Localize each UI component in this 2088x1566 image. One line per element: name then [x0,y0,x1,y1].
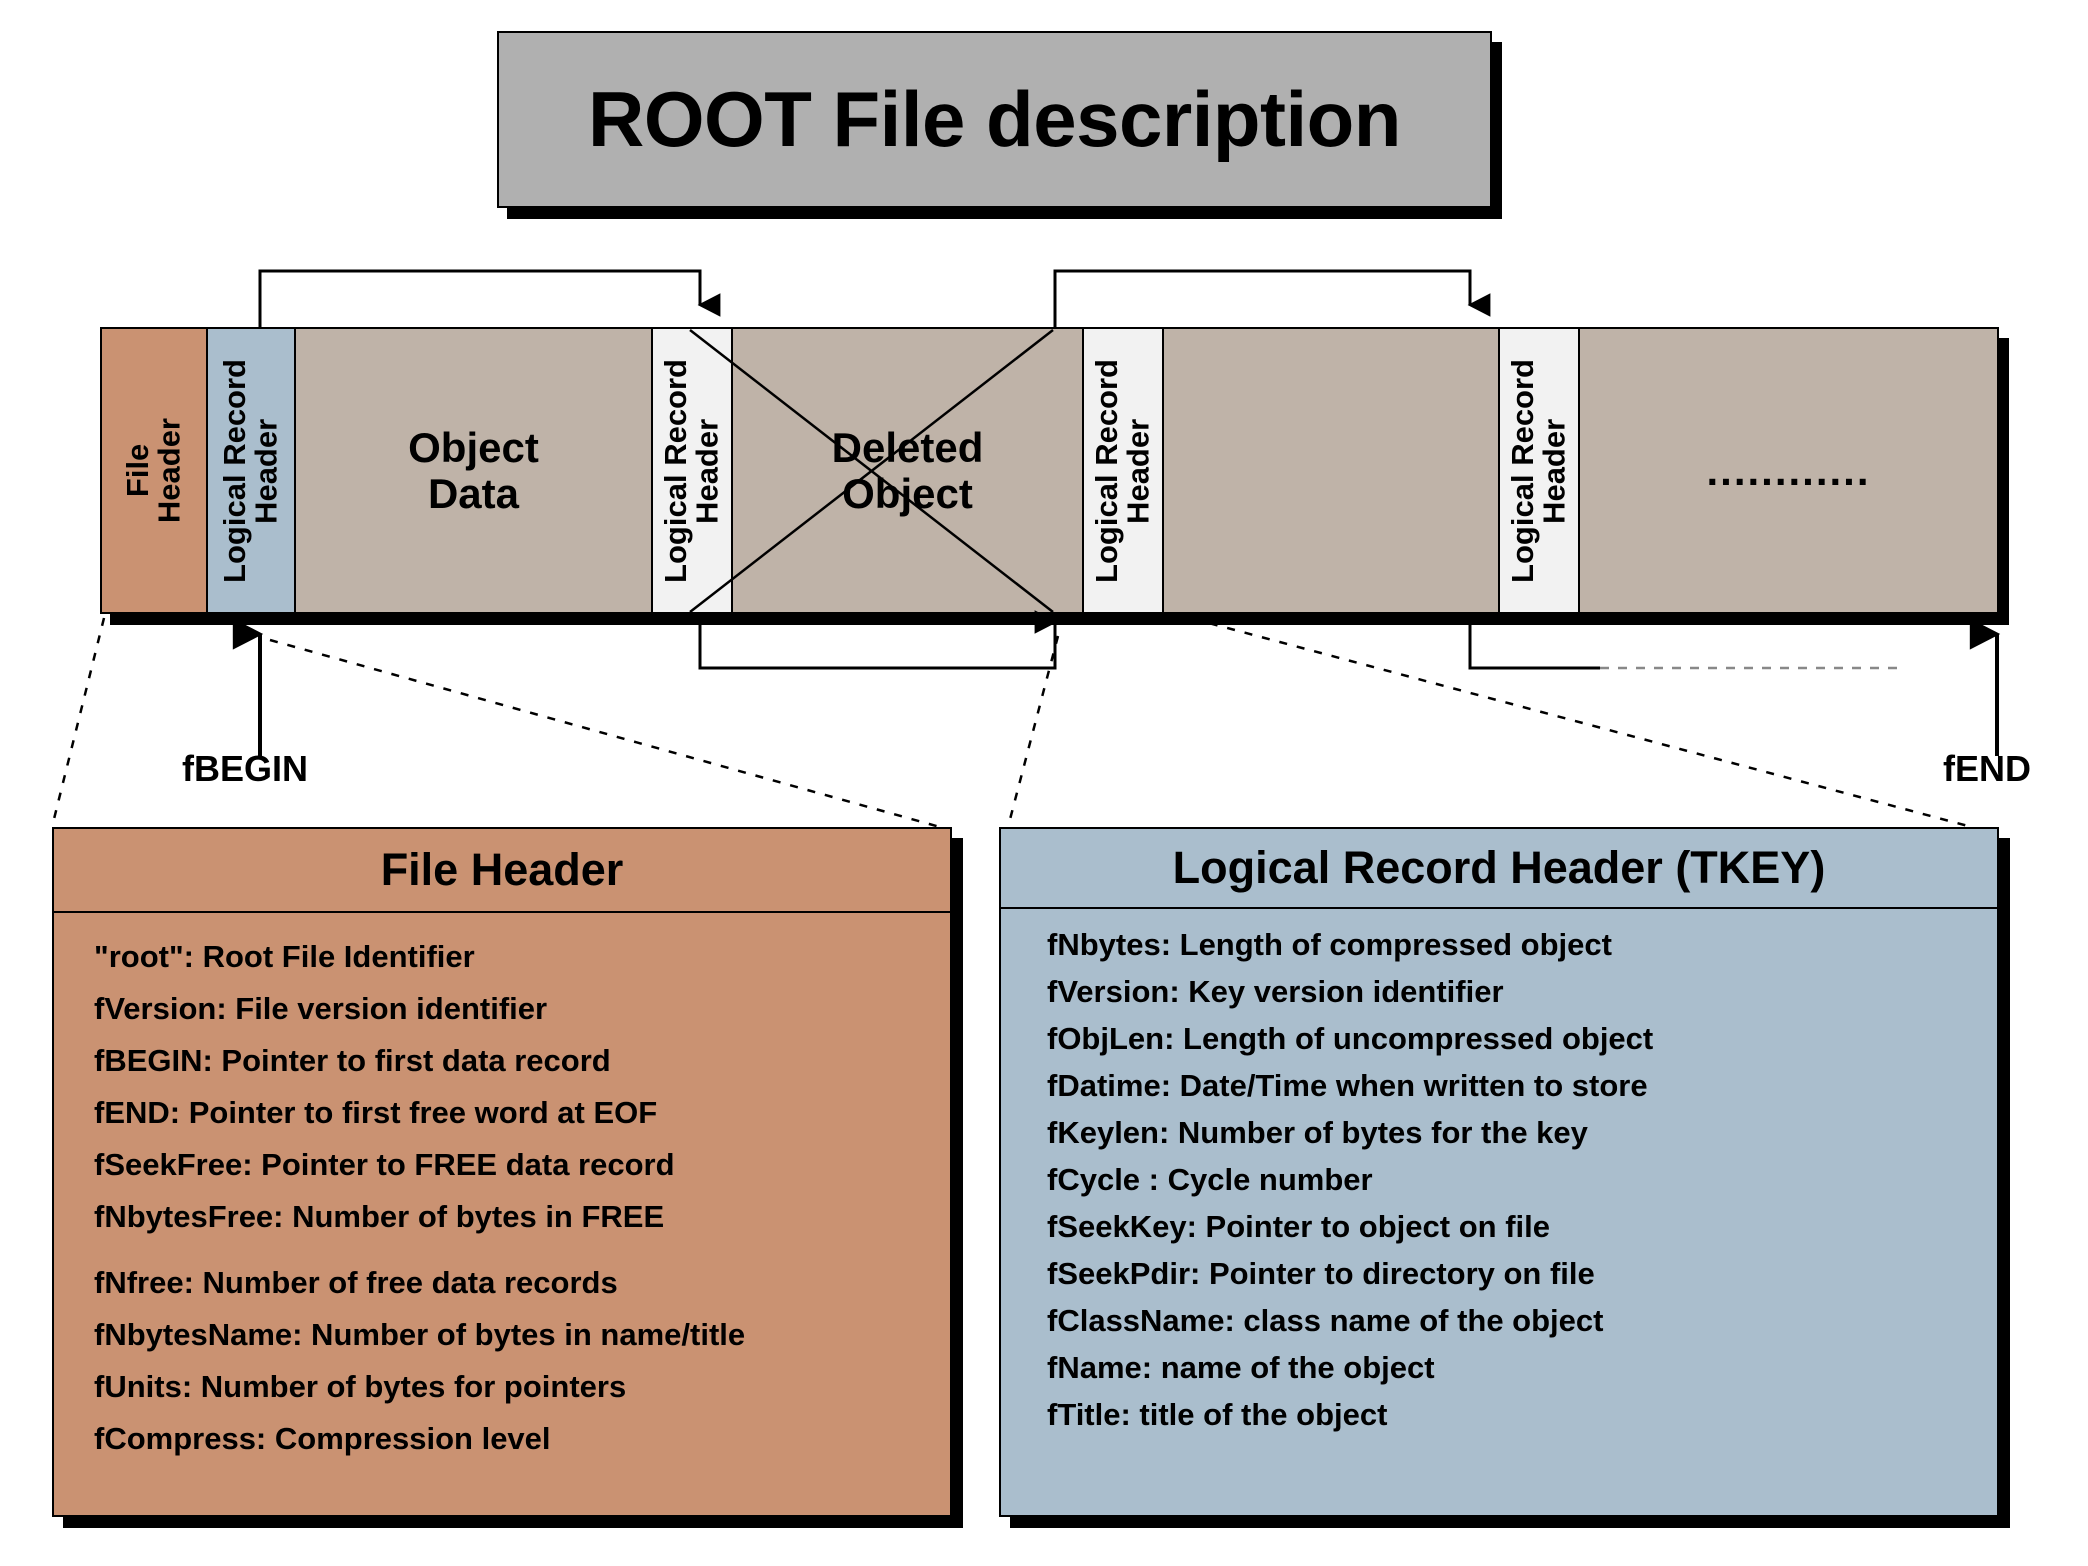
bar-segment-label: Logical Record Header [1091,359,1154,583]
list-item: fVersion: File version identifier [94,991,950,1027]
bar-segment-label: Logical Record Header [1507,359,1570,583]
bar-segment-logical-record-header-3[interactable]: Logical Record Header [1084,329,1164,612]
file-header-detail-box: File Header "root": Root File Identifier… [52,827,952,1517]
bar-segment-logical-record-header-1[interactable]: Logical Record Header [208,329,296,612]
list-item: "root": Root File Identifier [94,939,950,975]
diagram-canvas: ROOT File description File Header Logica… [0,0,2088,1566]
fend-label: fEND [1943,748,2031,790]
bar-segment-label: Logical Record Header [219,359,282,583]
bar-segment-object-data[interactable]: Object Data [296,329,653,612]
list-item: fTitle: title of the object [1047,1397,1997,1433]
list-item: fObjLen: Length of uncompressed object [1047,1021,1997,1057]
bar-segment-label: Object Data [408,425,539,516]
list-item: fClassName: class name of the object [1047,1303,1997,1339]
list-item: fNfree: Number of free data records [94,1265,950,1301]
list-item: fSeekKey: Pointer to object on file [1047,1209,1997,1245]
list-item: fEND: Pointer to first free word at EOF [94,1095,950,1131]
page-title-box: ROOT File description [497,31,1492,208]
top-bracket-2 [1055,271,1470,327]
list-item: fVersion: Key version identifier [1047,974,1997,1010]
bar-segment-object-data-2[interactable] [1164,329,1500,612]
bar-segment-label: ............ [1706,448,1870,493]
bar-segment-logical-record-header-4[interactable]: Logical Record Header [1500,329,1580,612]
list-item: fKeylen: Number of bytes for the key [1047,1115,1997,1151]
tkey-box-title: Logical Record Header (TKEY) [1173,842,1826,894]
list-item: fSeekPdir: Pointer to directory on file [1047,1256,1997,1292]
bar-segment-file-header[interactable]: File Header [102,329,208,612]
list-item: fNbytes: Length of compressed object [1047,927,1997,963]
bar-segment-logical-record-header-2[interactable]: Logical Record Header [653,329,733,612]
list-item: fCompress: Compression level [94,1421,950,1457]
list-item: fNbytesName: Number of bytes in name/tit… [94,1317,950,1353]
callout-file-header [52,618,940,827]
tkey-box-body: fNbytes: Length of compressed object fVe… [1001,909,1997,1515]
fbegin-label: fBEGIN [182,748,308,790]
bar-segment-label: File Header [122,418,185,523]
list-item: fNbytesFree: Number of bytes in FREE [94,1199,950,1235]
list-item: fCycle : Cycle number [1047,1162,1997,1198]
tkey-detail-box: Logical Record Header (TKEY) fNbytes: Le… [999,827,1999,1517]
tkey-box-header: Logical Record Header (TKEY) [1001,829,1997,909]
callout-tkey [1008,614,1968,827]
list-item: fDatime: Date/Time when written to store [1047,1068,1997,1104]
list-item: fUnits: Number of bytes for pointers [94,1369,950,1405]
list-item: fSeekFree: Pointer to FREE data record [94,1147,950,1183]
top-bracket-1 [260,271,700,327]
file-header-box-title: File Header [381,844,624,896]
file-header-box-body: "root": Root File Identifier fVersion: F… [54,913,950,1515]
list-item: fBEGIN: Pointer to first data record [94,1043,950,1079]
file-header-box-header: File Header [54,829,950,913]
bar-segment-label: Deleted Object [832,425,984,516]
page-title: ROOT File description [588,74,1401,165]
list-item: fName: name of the object [1047,1350,1997,1386]
bar-segment-ellipsis[interactable]: ............ [1580,329,1997,612]
bar-segment-deleted-object[interactable]: Deleted Object [733,329,1084,612]
bar-segment-label: Logical Record Header [660,359,723,583]
file-layout-bar: File Header Logical Record Header Object… [100,327,1999,614]
